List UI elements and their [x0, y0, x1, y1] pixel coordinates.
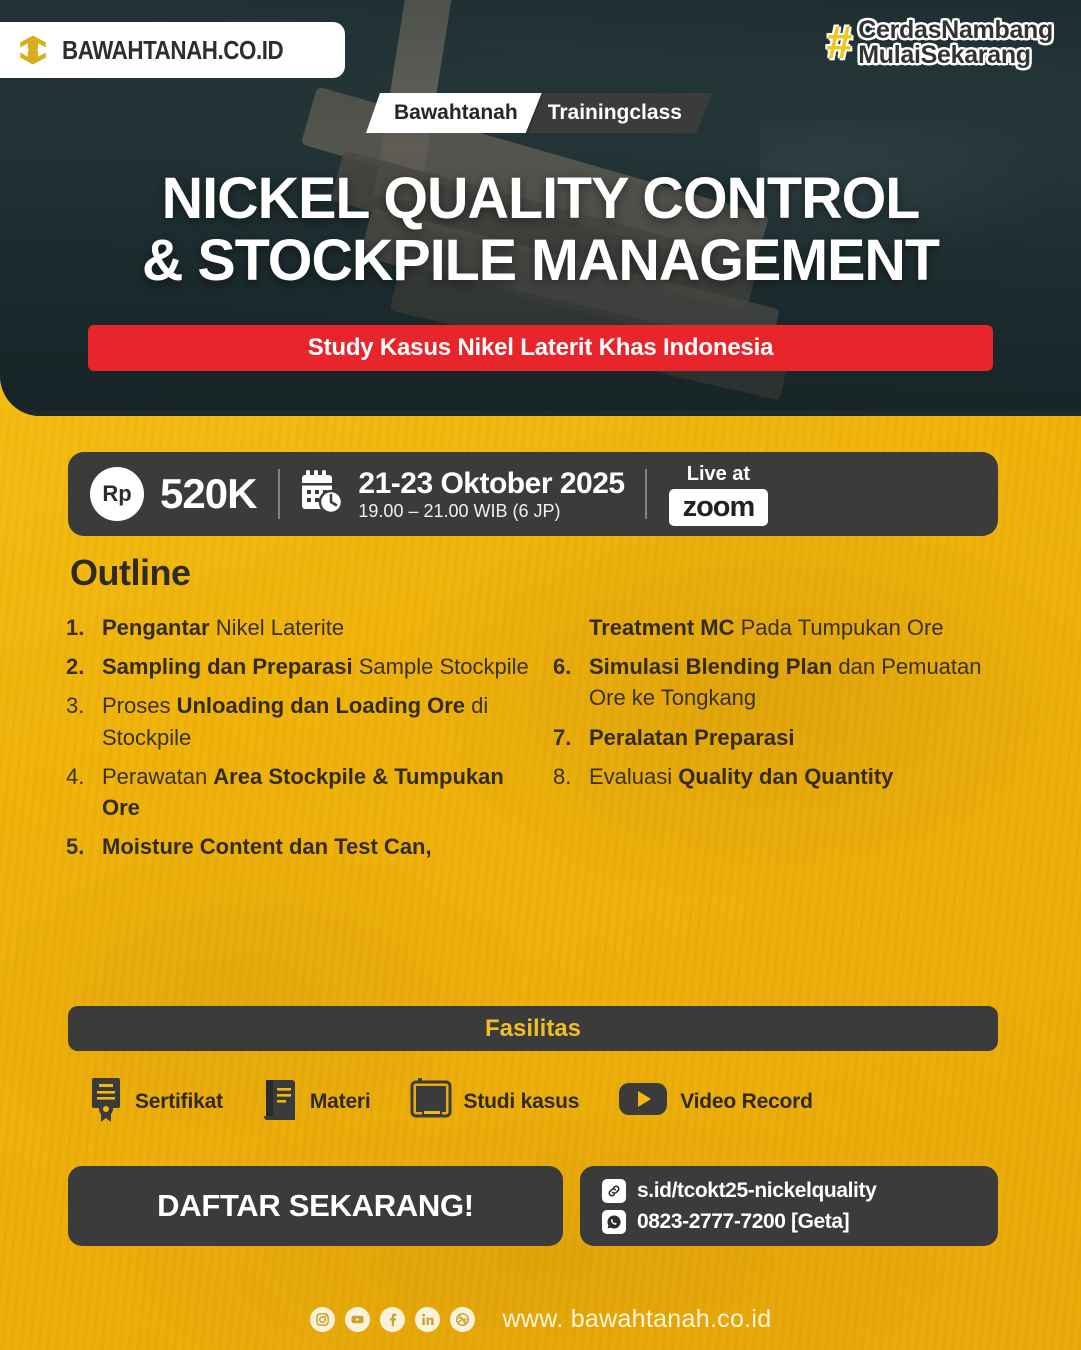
brand-logo[interactable]: BAWAHTANAH.CO.ID — [0, 22, 345, 78]
currency-badge: Rp — [90, 467, 144, 521]
calendar-clock-icon — [300, 469, 344, 520]
zoom-logo: zoom — [669, 489, 769, 526]
book-icon — [261, 1077, 299, 1126]
price-block: Rp 520K — [90, 467, 278, 521]
instagram-icon[interactable] — [310, 1307, 335, 1332]
outline-item-number: 6. — [553, 651, 589, 713]
footer: www. bawahtanah.co.id — [0, 1305, 1081, 1334]
outline-item-text: Proses Unloading dan Loading Ore di Stoc… — [102, 690, 529, 752]
facility-item: Sertifikat — [88, 1076, 223, 1127]
presentation-board-icon — [409, 1076, 453, 1127]
campaign-hashtag: # CerdasNambang MulaiSekarang — [827, 18, 1053, 68]
subtitle-text: Study Kasus Nikel Laterit Khas Indonesia — [308, 334, 773, 362]
schedule-block: 21-23 Oktober 2025 19.00 – 21.00 WIB (6 … — [280, 467, 644, 521]
facebook-icon[interactable] — [380, 1307, 405, 1332]
facility-label: Video Record — [680, 1090, 813, 1114]
facility-label: Studi kasus — [464, 1090, 580, 1114]
whatsapp-number: 0823-2777-7200 [Geta] — [637, 1210, 849, 1234]
outline-item: 4.Perawatan Area Stockpile & Tumpukan Or… — [66, 761, 529, 823]
outline-item-text: Pengantar Nikel Laterite — [102, 612, 529, 643]
hero-section: BAWAHTANAH.CO.ID # CerdasNambang MulaiSe… — [0, 0, 1081, 416]
outline-item-text: Simulasi Blending Plan dan Pemuatan Ore … — [589, 651, 1016, 713]
hash-symbol-icon: # — [827, 21, 853, 65]
hexagon-chevron-logo-icon — [16, 33, 50, 67]
facility-item: Materi — [261, 1077, 371, 1126]
facility-item: Video Record — [617, 1079, 813, 1124]
outline-item-continuation: Treatment MC Pada Tumpukan Ore — [553, 612, 1016, 643]
outline-item: 6.Simulasi Blending Plan dan Pemuatan Or… — [553, 651, 1016, 713]
title-line-1: NICKEL QUALITY CONTROL — [5, 168, 1075, 230]
facility-item: Studi kasus — [409, 1076, 580, 1127]
whatsapp-row[interactable]: 0823-2777-7200 [Geta] — [602, 1210, 998, 1234]
youtube-icon[interactable] — [345, 1307, 370, 1332]
register-button-label: DAFTAR SEKARANG! — [157, 1188, 474, 1224]
badge-type-label: Trainingclass — [528, 93, 712, 133]
page-title: NICKEL QUALITY CONTROL & STOCKPILE MANAG… — [0, 168, 1081, 292]
poster-root: BAWAHTANAH.CO.ID # CerdasNambang MulaiSe… — [0, 0, 1081, 1350]
outline-heading: Outline — [70, 552, 191, 594]
divider — [645, 469, 647, 519]
info-bar: Rp 520K — [68, 452, 998, 536]
subtitle-banner: Study Kasus Nikel Laterit Khas Indonesia — [88, 325, 993, 371]
outline-item-text: Perawatan Area Stockpile & Tumpukan Ore — [102, 761, 529, 823]
website-url[interactable]: www. bawahtanah.co.id — [503, 1305, 772, 1334]
outline-column-right: Treatment MC Pada Tumpukan Ore6.Simulasi… — [553, 612, 1016, 871]
outline-item-text: Moisture Content dan Test Can, — [102, 831, 529, 862]
platform-block: Live at zoom — [647, 463, 769, 526]
outline-item: 8.Evaluasi Quality dan Quantity — [553, 761, 1016, 792]
certificate-icon — [88, 1076, 124, 1127]
hashtag-line-2: MulaiSekarang — [858, 43, 1053, 68]
outline-item-number: 1. — [66, 612, 102, 643]
facilities-heading: Fasilitas — [485, 1015, 581, 1043]
play-video-icon — [617, 1079, 669, 1124]
dribbble-icon[interactable] — [450, 1307, 475, 1332]
outline-item: 5.Moisture Content dan Test Can, — [66, 831, 529, 862]
badge-brand-label: Bawahtanah — [366, 93, 542, 133]
outline-item-number: 2. — [66, 651, 102, 682]
outline-item-number: 3. — [66, 690, 102, 752]
event-time: 19.00 – 21.00 WIB (6 JP) — [358, 501, 624, 521]
outline-item-text: Sampling dan Preparasi Sample Stockpile — [102, 651, 529, 682]
hashtag-line-1: CerdasNambang — [858, 18, 1053, 43]
facility-label: Sertifikat — [135, 1090, 223, 1114]
outline-item-text: Peralatan Preparasi — [589, 722, 1016, 753]
linkedin-icon[interactable] — [415, 1307, 440, 1332]
outline-item-number: 5. — [66, 831, 102, 862]
brand-logo-text: BAWAHTANAH.CO.ID — [62, 35, 283, 66]
registration-link-row[interactable]: s.id/tcokt25-nickelquality — [602, 1179, 998, 1203]
outline-item: 1.Pengantar Nikel Laterite — [66, 612, 529, 643]
trainingclass-badge: Bawahtanah Trainingclass — [366, 93, 712, 133]
outline-item: 3.Proses Unloading dan Loading Ore di St… — [66, 690, 529, 752]
whatsapp-icon — [602, 1210, 626, 1234]
outline-item-number: 4. — [66, 761, 102, 823]
title-line-2: & STOCKPILE MANAGEMENT — [5, 230, 1075, 292]
outline-item-number: 7. — [553, 722, 589, 753]
outline-item-text: Evaluasi Quality dan Quantity — [589, 761, 1016, 792]
outline-item: 2.Sampling dan Preparasi Sample Stockpil… — [66, 651, 529, 682]
live-at-label: Live at — [687, 463, 750, 486]
facilities-heading-bar: Fasilitas — [68, 1006, 998, 1051]
facilities-row: Sertifikat Materi — [88, 1076, 1008, 1127]
registration-link: s.id/tcokt25-nickelquality — [637, 1179, 876, 1203]
outline-column-left: 1.Pengantar Nikel Laterite2.Sampling dan… — [66, 612, 529, 871]
event-date: 21-23 Oktober 2025 — [358, 467, 624, 501]
outline-columns: 1.Pengantar Nikel Laterite2.Sampling dan… — [66, 612, 1016, 871]
facility-label: Materi — [310, 1090, 371, 1114]
link-icon — [602, 1179, 626, 1203]
register-button[interactable]: DAFTAR SEKARANG! — [68, 1166, 563, 1246]
contact-panel: s.id/tcokt25-nickelquality 0823-2777-720… — [580, 1166, 998, 1246]
divider — [278, 469, 280, 519]
price-value: 520K — [160, 470, 256, 518]
outline-item-number: 8. — [553, 761, 589, 792]
outline-item: 7.Peralatan Preparasi — [553, 722, 1016, 753]
